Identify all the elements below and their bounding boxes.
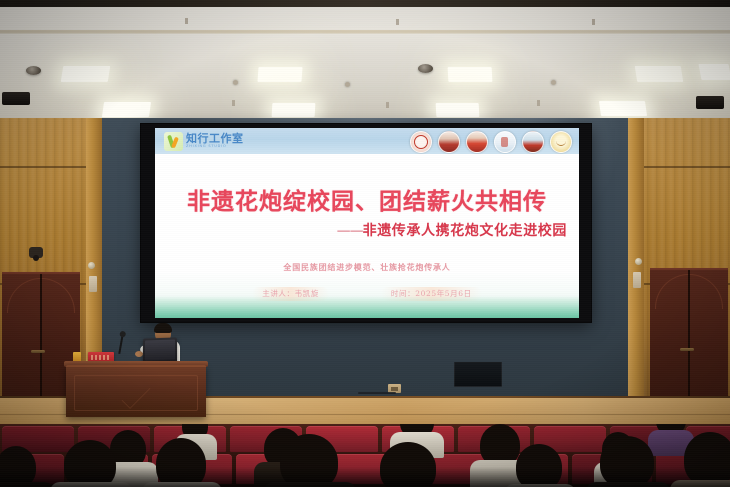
ceiling-light-panel bbox=[698, 64, 730, 80]
slide-subtitle: ——非遗传承人携花炮文化走进校园 bbox=[337, 220, 567, 240]
ceiling-sprinkler bbox=[551, 80, 556, 85]
slide-main-title: 非遗花炮绽校园、团结薪火共相传 bbox=[155, 182, 579, 216]
wall-speaker-left bbox=[2, 92, 30, 105]
screenshot-root: 知行工作室 ZHIXING STUDIO 非遗花炮绽校园、团结薪火共相传 ——非… bbox=[0, 0, 730, 487]
audience-bottom-shadow bbox=[0, 467, 730, 487]
ceiling-fixture bbox=[396, 19, 399, 25]
podium-front-panel bbox=[74, 375, 198, 411]
door-handle[interactable] bbox=[680, 348, 694, 351]
ceiling-fixture bbox=[386, 102, 389, 108]
laptop-screen bbox=[145, 339, 175, 360]
ceiling-fixture bbox=[592, 19, 595, 25]
ceiling-sprinkler bbox=[345, 82, 350, 87]
door-knob-left[interactable] bbox=[88, 262, 95, 269]
slide-credential-line: 全国民族团结进步模范、壮族抢花炮传承人 bbox=[155, 262, 579, 273]
wall-vent-panel bbox=[454, 362, 502, 387]
subtitle-text: 非遗传承人携花炮文化走进校园 bbox=[363, 223, 567, 239]
badge-seal-red-icon bbox=[410, 131, 432, 153]
badge-photo-white-icon bbox=[494, 131, 516, 153]
ceiling-top-shadow bbox=[0, 0, 730, 7]
slide-bottom-gradient bbox=[155, 296, 579, 318]
ceiling-light-panel bbox=[257, 67, 302, 82]
slide-body: 非遗花炮绽校园、团结薪火共相传 ——非遗传承人携花炮文化走进校园 全国民族团结进… bbox=[155, 154, 579, 318]
wall-seam bbox=[0, 166, 92, 168]
ceiling-light-panel bbox=[635, 66, 684, 82]
ceiling-light-panel bbox=[102, 102, 151, 117]
podium-chevron-detail bbox=[122, 380, 151, 409]
exit-sign-right bbox=[633, 272, 641, 288]
slide-logo: 知行工作室 ZHIXING STUDIO bbox=[164, 132, 244, 151]
ceiling-light-panel bbox=[448, 67, 493, 82]
ceiling-downlight bbox=[26, 66, 41, 75]
badge-emblem-gold-icon bbox=[550, 131, 572, 153]
wall-speaker-right bbox=[696, 96, 724, 109]
ceiling-light-panel bbox=[61, 66, 111, 82]
ceiling-light-panel bbox=[272, 103, 316, 117]
ceiling-sprinkler bbox=[233, 80, 238, 85]
wall-pillar-right bbox=[628, 118, 644, 418]
badge-photo-crowd-icon bbox=[466, 131, 488, 153]
presenter-hair bbox=[154, 323, 172, 333]
ceiling-light-panel bbox=[436, 103, 480, 117]
slide-badge-row bbox=[410, 131, 572, 153]
floor-cable bbox=[358, 392, 396, 394]
wall-seam bbox=[638, 166, 730, 168]
subtitle-dash: —— bbox=[337, 223, 363, 239]
speaker-podium bbox=[66, 365, 206, 417]
ceiling-fixture bbox=[232, 100, 235, 106]
projection-screen: 知行工作室 ZHIXING STUDIO 非遗花炮绽校园、团结薪火共相传 ——非… bbox=[155, 128, 579, 318]
door-handle[interactable] bbox=[31, 350, 45, 353]
door-knob-right[interactable] bbox=[635, 258, 642, 265]
logo-text: 知行工作室 bbox=[186, 133, 244, 144]
presenter-hand bbox=[135, 351, 143, 357]
wall-camera-left bbox=[29, 247, 43, 258]
exit-sign-left bbox=[89, 276, 97, 292]
leaf-logo-icon bbox=[164, 132, 183, 151]
logo-subtext: ZHIXING STUDIO bbox=[186, 145, 244, 149]
ceiling bbox=[0, 0, 730, 122]
ceiling-light-panel bbox=[599, 101, 647, 116]
audience-area bbox=[0, 424, 730, 487]
ceiling-fixture bbox=[537, 100, 540, 106]
badge-photo-performers-icon bbox=[438, 131, 460, 153]
badge-photo-ceremony-icon bbox=[522, 131, 544, 153]
ceiling-fixture bbox=[185, 18, 188, 24]
slide-header-bar: 知行工作室 ZHIXING STUDIO bbox=[155, 128, 579, 154]
ceiling-downlight bbox=[418, 64, 433, 73]
